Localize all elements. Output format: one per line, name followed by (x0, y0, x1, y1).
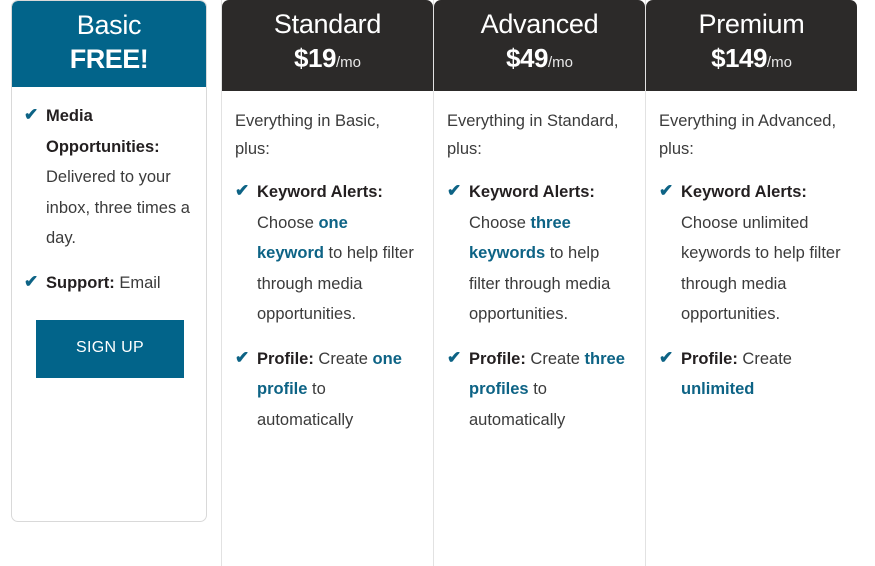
feature-text: Support: Email (46, 274, 161, 292)
plan-price: FREE! (20, 43, 198, 75)
plan-body-basic: ✔Media Opportunities: Delivered to your … (12, 87, 206, 388)
plan-price-period: /mo (548, 54, 573, 71)
plan-price-period: /mo (336, 54, 361, 71)
feature-detail: Delivered to your inbox, three times a d… (46, 168, 190, 247)
plan-price: $19/mo (230, 42, 425, 79)
plan-price-amount: FREE! (70, 44, 149, 74)
plan-header-advanced: Advanced$49/mo (434, 0, 645, 91)
feature-label: Keyword Alerts: (469, 183, 595, 201)
check-icon: ✔ (659, 178, 673, 204)
feature-detail: Email (115, 274, 161, 292)
plan-name: Standard (230, 6, 425, 42)
plan-intro-text: Everything in Basic, plus: (235, 107, 419, 163)
feature-text: Profile: Create unlimited (681, 350, 792, 399)
feature-detail: Choose unlimited keywords to help filter… (681, 214, 841, 324)
feature-text: Keyword Alerts: Choose unlimited keyword… (681, 183, 841, 323)
feature-item: ✔Profile: Create three profiles to autom… (447, 344, 631, 436)
plan-price: $49/mo (442, 42, 637, 79)
feature-text: Keyword Alerts: Choose three keywords to… (469, 183, 610, 323)
feature-label: Keyword Alerts: (681, 183, 807, 201)
feature-label: Keyword Alerts: (257, 183, 383, 201)
feature-item: ✔Keyword Alerts: Choose three keywords t… (447, 177, 631, 330)
feature-label: Support: (46, 274, 115, 292)
plan-intro-text: Everything in Advanced, plus: (659, 107, 843, 163)
plan-body-standard: Everything in Basic, plus:✔Keyword Alert… (222, 91, 433, 459)
feature-item: ✔Keyword Alerts: Choose unlimited keywor… (659, 177, 843, 330)
feature-item: ✔Profile: Create one profile to automati… (235, 344, 419, 436)
feature-label: Media Opportunities: (46, 107, 160, 156)
check-icon: ✔ (24, 269, 38, 295)
pricing-plans-grid: BasicFREE!✔Media Opportunities: Delivere… (0, 0, 875, 566)
feature-item: ✔Support: Email (24, 268, 196, 299)
feature-text: Keyword Alerts: Choose one keyword to he… (257, 183, 414, 323)
plan-body-advanced: Everything in Standard, plus:✔Keyword Al… (434, 91, 645, 459)
feature-item: ✔Media Opportunities: Delivered to your … (24, 101, 196, 254)
feature-highlight: unlimited (681, 380, 754, 398)
feature-detail: Create (738, 350, 792, 368)
check-icon: ✔ (447, 345, 461, 371)
feature-detail: Choose (469, 214, 530, 232)
plan-price-period: /mo (767, 54, 792, 71)
plan-header-premium: Premium$149/mo (646, 0, 857, 91)
plan-intro-text: Everything in Standard, plus: (447, 107, 631, 163)
feature-text: Media Opportunities: Delivered to your i… (46, 107, 190, 247)
feature-detail: Create (526, 350, 585, 368)
feature-detail: Create (314, 350, 373, 368)
plan-price-amount: $149 (711, 43, 767, 73)
check-icon: ✔ (659, 345, 673, 371)
check-icon: ✔ (24, 102, 38, 128)
plan-card-advanced: Advanced$49/moEverything in Standard, pl… (433, 0, 645, 566)
plan-name: Basic (20, 7, 198, 43)
plan-header-standard: Standard$19/mo (222, 0, 433, 91)
plan-card-standard: Standard$19/moEverything in Basic, plus:… (221, 0, 433, 566)
feature-text: Profile: Create three profiles to automa… (469, 350, 625, 429)
plan-header-basic: BasicFREE! (12, 1, 206, 87)
feature-label: Profile: (257, 350, 314, 368)
feature-item: ✔Profile: Create unlimited (659, 344, 843, 405)
feature-label: Profile: (681, 350, 738, 368)
feature-text: Profile: Create one profile to automatic… (257, 350, 402, 429)
plan-price: $149/mo (654, 42, 849, 79)
plan-card-premium: Premium$149/moEverything in Advanced, pl… (645, 0, 857, 566)
feature-item: ✔Keyword Alerts: Choose one keyword to h… (235, 177, 419, 330)
check-icon: ✔ (235, 178, 249, 204)
check-icon: ✔ (447, 178, 461, 204)
plan-name: Advanced (442, 6, 637, 42)
plan-card-basic: BasicFREE!✔Media Opportunities: Delivere… (11, 0, 207, 522)
plan-price-amount: $19 (294, 43, 336, 73)
sign-up-button[interactable]: SIGN UP (36, 320, 184, 378)
plan-price-amount: $49 (506, 43, 548, 73)
feature-label: Profile: (469, 350, 526, 368)
check-icon: ✔ (235, 345, 249, 371)
plan-name: Premium (654, 6, 849, 42)
plan-body-premium: Everything in Advanced, plus:✔Keyword Al… (646, 91, 857, 429)
feature-detail: Choose (257, 214, 318, 232)
